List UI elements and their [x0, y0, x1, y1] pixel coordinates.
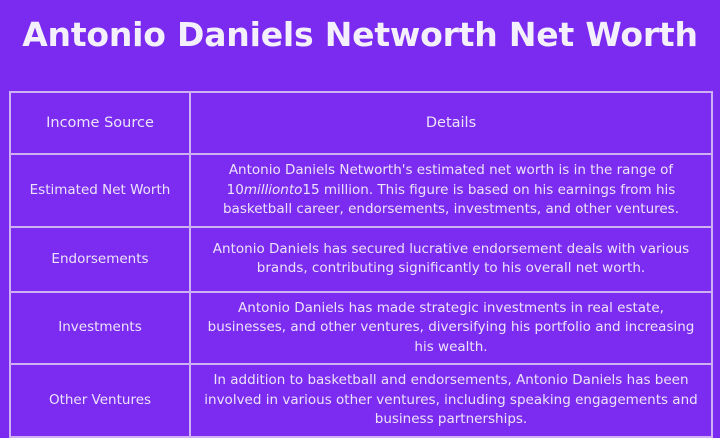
row-details-investments: Antonio Daniels has made strategic inves…: [190, 292, 712, 365]
row-label-other-ventures: Other Ventures: [10, 364, 190, 437]
row-label-endorsements: Endorsements: [10, 227, 190, 292]
table-row: Estimated Net Worth Antonio Daniels Netw…: [10, 154, 712, 227]
column-header-details: Details: [190, 92, 712, 154]
row-details-estimated-net-worth: Antonio Daniels Networth's estimated net…: [190, 154, 712, 227]
table-row: Other Ventures In addition to basketball…: [10, 364, 712, 437]
networth-table-container: Income Source Details Estimated Net Wort…: [9, 91, 711, 438]
page-title: Antonio Daniels Networth Net Worth: [0, 14, 720, 56]
table-row: Investments Antonio Daniels has made str…: [10, 292, 712, 365]
row-label-investments: Investments: [10, 292, 190, 365]
row-label-estimated-net-worth: Estimated Net Worth: [10, 154, 190, 227]
page-root: Antonio Daniels Networth Net Worth Incom…: [0, 0, 720, 428]
networth-table: Income Source Details Estimated Net Wort…: [9, 91, 713, 438]
table-row: Endorsements Antonio Daniels has secured…: [10, 227, 712, 292]
details-math-fragment: millionto: [244, 182, 303, 198]
table-header: Income Source Details: [10, 92, 712, 154]
row-details-other-ventures: In addition to basketball and endorsemen…: [190, 364, 712, 437]
row-details-endorsements: Antonio Daniels has secured lucrative en…: [190, 227, 712, 292]
table-header-row: Income Source Details: [10, 92, 712, 154]
table-body: Estimated Net Worth Antonio Daniels Netw…: [10, 154, 712, 437]
column-header-income-source: Income Source: [10, 92, 190, 154]
